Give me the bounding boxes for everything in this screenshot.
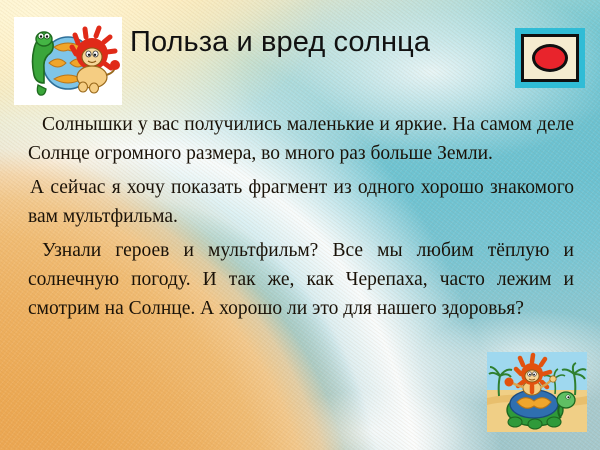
paragraph-2: А сейчас я хочу показать фрагмент из одн… (28, 173, 574, 231)
body-text-block: Солнышки у вас получились маленькие и яр… (28, 110, 574, 323)
paragraph-1: Солнышки у вас получились маленькие и яр… (28, 110, 574, 168)
slide-title: Польза и вред солнца (130, 25, 490, 59)
turtle-and-lion-cub-clipart (14, 17, 122, 105)
lion-cub-riding-turtle-clipart (487, 352, 587, 432)
paragraph-3: Узнали героев и мультфильм? Все мы любим… (28, 236, 574, 323)
sun-icon-disc (532, 44, 568, 72)
turtle-and-lion-cub-image (14, 17, 122, 105)
sun-icon-plate (521, 34, 579, 82)
slide: Польза и вред солнца Солнышки у вас полу… (0, 0, 600, 450)
red-sun-disc-icon (515, 28, 585, 88)
lion-cub-riding-turtle-image (487, 352, 587, 432)
